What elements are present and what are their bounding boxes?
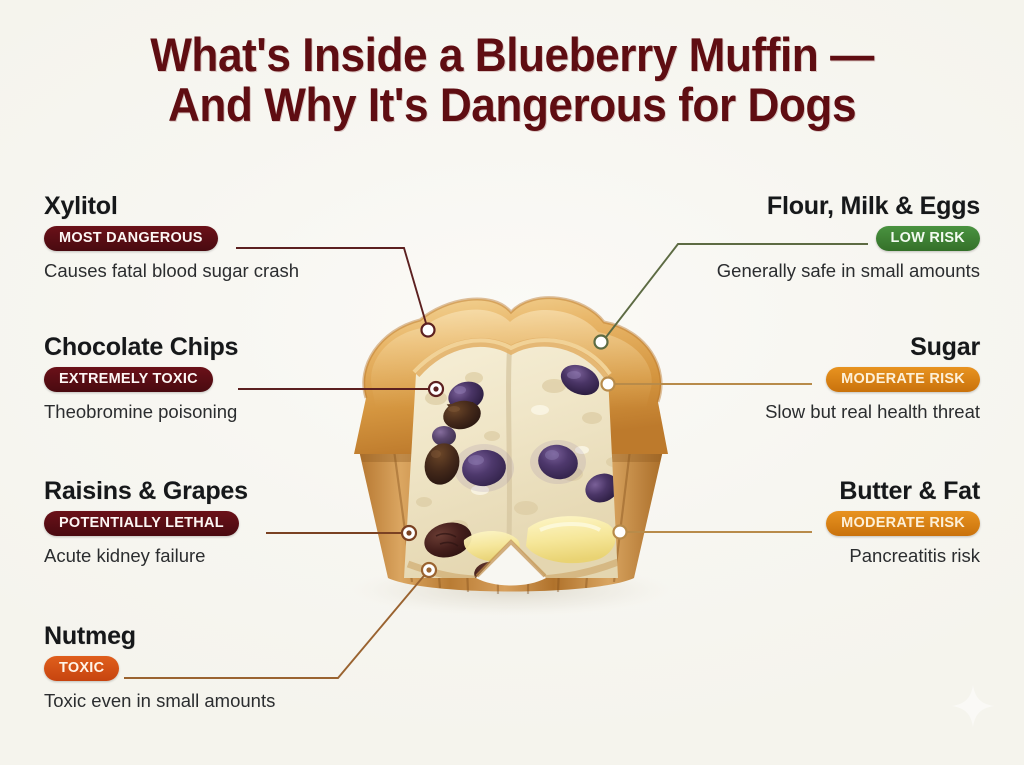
callout-raisins-grapes[interactable]: Raisins & Grapes POTENTIALLY LETHAL Acut… (44, 477, 374, 567)
callout-title: Nutmeg (44, 622, 374, 650)
callout-title: Raisins & Grapes (44, 477, 374, 505)
callout-description: Acute kidney failure (44, 545, 374, 567)
title-line-1: What's Inside a Blueberry Muffin — (31, 30, 994, 80)
callout-description: Theobromine poisoning (44, 401, 374, 423)
callout-chocolate-chips[interactable]: Chocolate Chips EXTREMELY TOXIC Theobrom… (44, 333, 374, 423)
infographic-canvas: What's Inside a Blueberry Muffin — And W… (0, 0, 1024, 765)
status-badge: LOW RISK (876, 226, 981, 251)
callout-title: Xylitol (44, 192, 374, 220)
callout-title: Sugar (680, 333, 980, 361)
callout-title: Flour, Milk & Eggs (680, 192, 980, 220)
callout-description: Generally safe in small amounts (680, 260, 980, 282)
status-badge: POTENTIALLY LETHAL (44, 511, 239, 536)
callout-xylitol[interactable]: Xylitol MOST DANGEROUS Causes fatal bloo… (44, 192, 374, 282)
callout-description: Pancreatitis risk (680, 545, 980, 567)
page-title: What's Inside a Blueberry Muffin — And W… (0, 30, 1024, 130)
callout-flour-milk-eggs[interactable]: Flour, Milk & Eggs LOW RISK Generally sa… (680, 192, 980, 282)
callout-title: Butter & Fat (680, 477, 980, 505)
callout-nutmeg[interactable]: Nutmeg TOXIC Toxic even in small amounts (44, 622, 374, 712)
callout-title: Chocolate Chips (44, 333, 374, 361)
callout-description: Slow but real health threat (680, 401, 980, 423)
sparkle-star-icon (950, 683, 996, 729)
muffin-illustration (296, 278, 726, 638)
title-line-2: And Why It's Dangerous for Dogs (31, 80, 994, 130)
status-badge: MODERATE RISK (826, 511, 980, 536)
status-badge: MODERATE RISK (826, 367, 980, 392)
status-badge: TOXIC (44, 656, 119, 681)
status-badge: EXTREMELY TOXIC (44, 367, 213, 392)
status-badge: MOST DANGEROUS (44, 226, 218, 251)
callout-sugar[interactable]: Sugar MODERATE RISK Slow but real health… (680, 333, 980, 423)
callout-description: Toxic even in small amounts (44, 690, 374, 712)
callout-butter-fat[interactable]: Butter & Fat MODERATE RISK Pancreatitis … (680, 477, 980, 567)
callout-description: Causes fatal blood sugar crash (44, 260, 374, 282)
